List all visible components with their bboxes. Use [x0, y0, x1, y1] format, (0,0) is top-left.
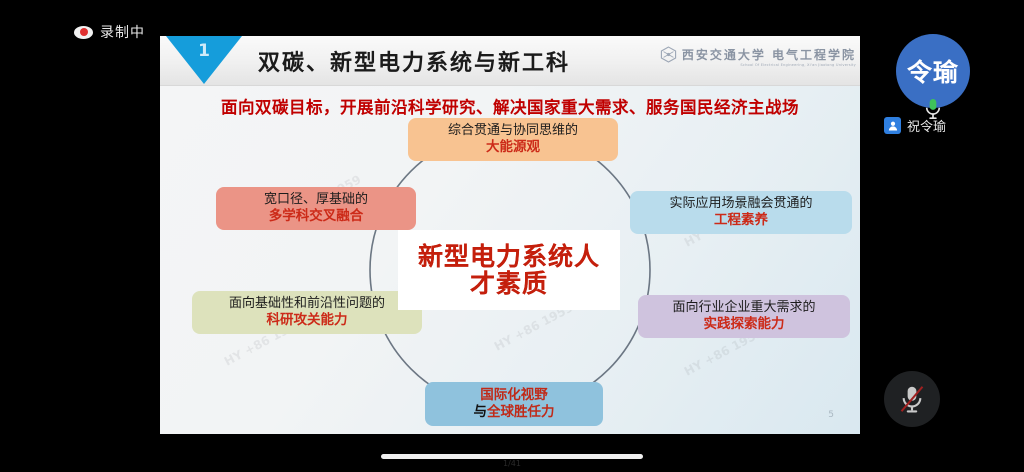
competency-diagram: HY +86 1959 HY +86 1959 HY +86 1959 HY +…	[160, 120, 860, 434]
person-icon	[884, 117, 901, 134]
node-line2: 与全球胜任力	[433, 404, 595, 421]
diagram-node-top[interactable]: 综合贯通与协同思维的 大能源观	[408, 118, 618, 161]
node-line1: 实际应用场景融会贯通的	[638, 196, 844, 212]
recording-dot-icon	[74, 26, 93, 39]
node-line2: 实践探索能力	[646, 316, 842, 333]
node-line2-highlight: 全球胜任力	[487, 404, 555, 420]
node-line2: 大能源观	[416, 139, 610, 156]
presentation-slide[interactable]: 1 双碳、新型电力系统与新工科 西安交通大学 电气工程学院 School Of …	[160, 36, 860, 434]
node-line2: 科研攻关能力	[200, 312, 414, 329]
slide-subtitle: 面向双碳目标，开展前沿科学研究、解决国家重大需求、服务国民经济主战场	[160, 94, 860, 118]
node-line2: 工程素养	[638, 212, 844, 229]
diagram-center-node[interactable]: 新型电力系统人 才素质	[398, 230, 620, 310]
university-logo-cn: 西安交通大学 电气工程学院	[682, 46, 856, 63]
microphone-muted-icon	[898, 384, 926, 414]
slide-page-number: 5	[828, 410, 834, 420]
node-line1: 国际化视野	[433, 387, 595, 404]
university-logo-en: School Of Electrical Engineering, Xi'an …	[740, 63, 856, 67]
slide-number-badge-label: 1	[166, 41, 242, 61]
diagram-node-top-left[interactable]: 宽口径、厚基础的 多学科交叉融合	[216, 187, 416, 230]
node-line1: 面向行业企业重大需求的	[646, 300, 842, 316]
university-crest-icon	[660, 46, 677, 63]
participant-rail: 令瑜 祝令瑜	[860, 0, 1024, 472]
participant-name-row: 祝令瑜	[884, 116, 946, 135]
node-line1: 面向基础性和前沿性问题的	[200, 296, 414, 312]
node-line2: 多学科交叉融合	[224, 208, 408, 225]
home-indicator-label: 1/41	[503, 459, 521, 468]
mute-toggle-button[interactable]	[884, 371, 940, 427]
diagram-node-top-right[interactable]: 实际应用场景融会贯通的 工程素养	[630, 191, 852, 234]
slide-header: 1 双碳、新型电力系统与新工科 西安交通大学 电气工程学院 School Of …	[160, 36, 860, 86]
diagram-node-bottom-right[interactable]: 面向行业企业重大需求的 实践探索能力	[638, 295, 850, 338]
participant-name: 祝令瑜	[907, 116, 946, 135]
home-indicator[interactable]	[381, 454, 643, 459]
center-line2: 才素质	[470, 270, 548, 297]
node-line1: 综合贯通与协同思维的	[416, 123, 610, 139]
diagram-node-bottom[interactable]: 国际化视野 与全球胜任力	[425, 382, 603, 426]
recording-label: 录制中	[100, 22, 145, 42]
diagram-node-bottom-left[interactable]: 面向基础性和前沿性问题的 科研攻关能力	[192, 291, 422, 334]
node-line2-prefix: 与	[474, 404, 488, 420]
university-logo: 西安交通大学 电气工程学院	[660, 46, 856, 63]
recording-indicator: 录制中	[74, 22, 145, 42]
node-line1: 宽口径、厚基础的	[224, 192, 408, 208]
center-line1: 新型电力系统人	[418, 243, 600, 270]
slide-title: 双碳、新型电力系统与新工科	[258, 45, 570, 77]
avatar[interactable]: 令瑜	[896, 34, 970, 108]
